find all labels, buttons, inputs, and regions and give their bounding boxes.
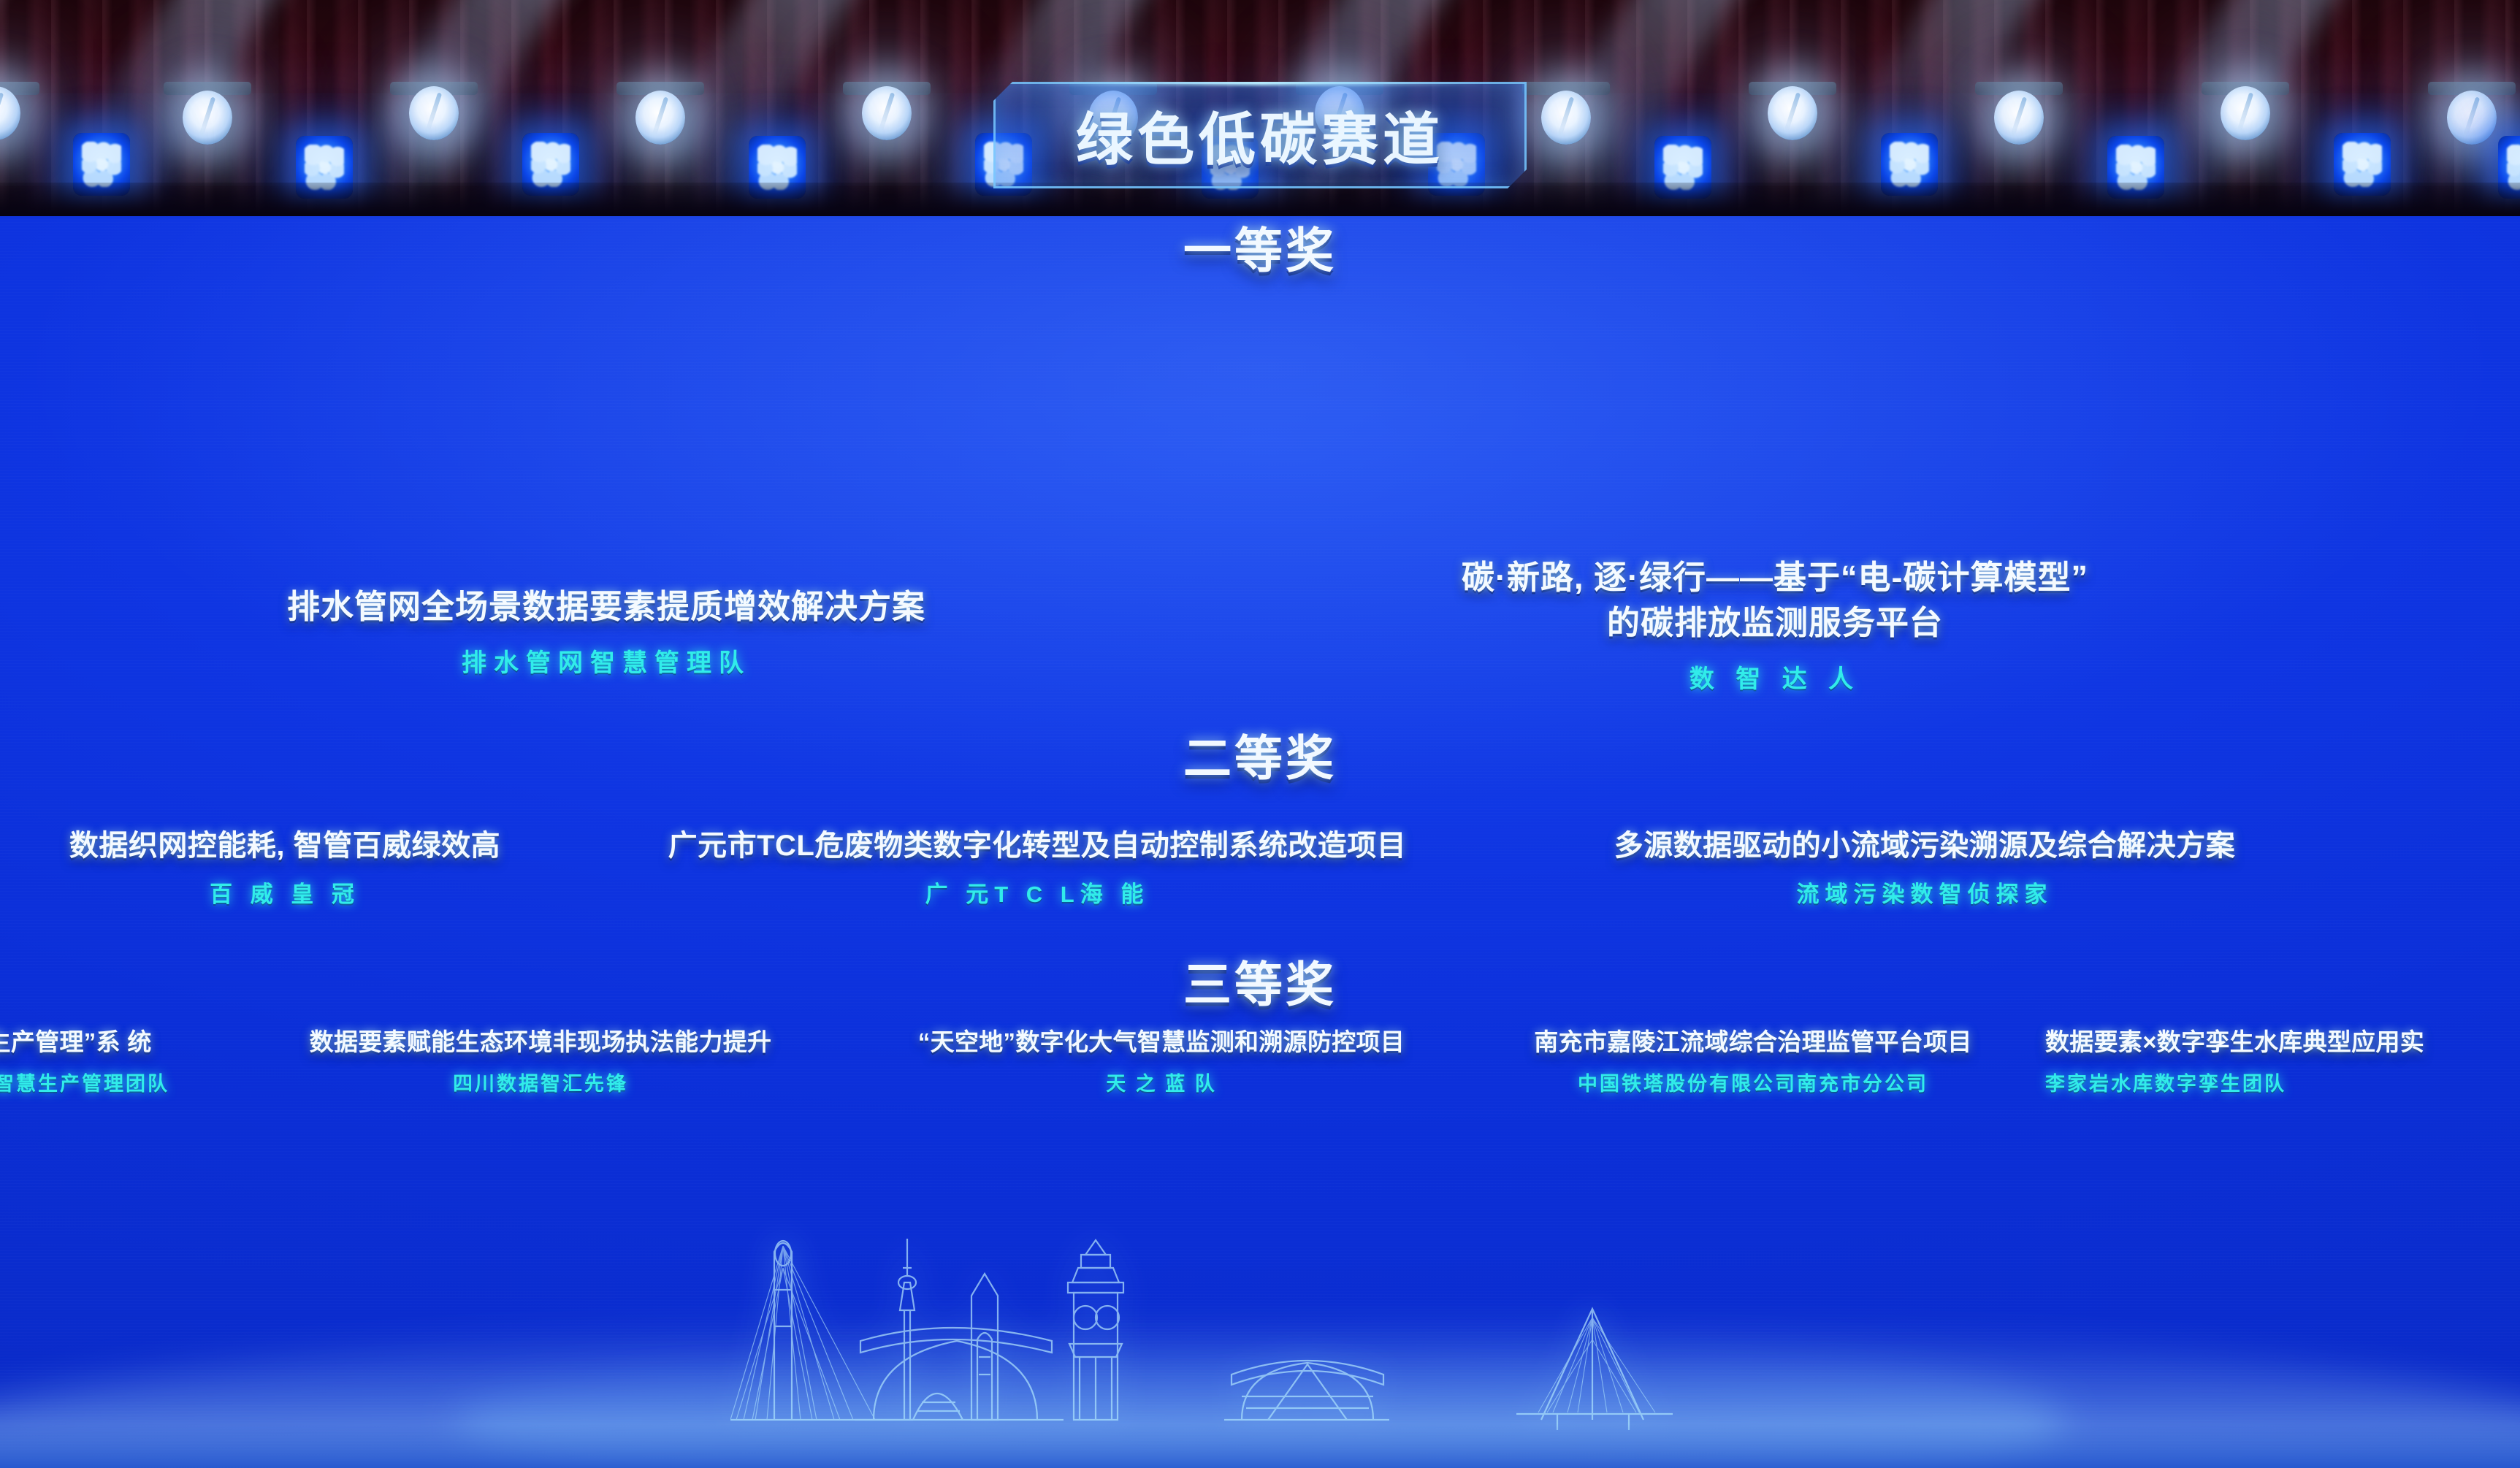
entry-team: 四川数据智汇先锋 [453,1068,628,1096]
award-entry-third-1: +生产管理”系 统 务智慧生产管理团队 [0,1022,235,1096]
entry-team: 百 威 皇 冠 [210,876,360,909]
entry-title: 多源数据驱动的小流域污染溯源及综合解决方案 [1614,822,2236,864]
award-entry-second-2: 广元市TCL危废物类数字化转型及自动控制系统改造项目 广 元T C L海 能 [643,822,1432,909]
entry-team: 数 智 达 人 [1689,659,1860,695]
entry-title: 广元市TCL危废物类数字化转型及自动控制系统改造项目 [668,822,1407,864]
entry-title: 排水管网全场景数据要素提质增效解决方案 [287,584,925,630]
entry-title-line: 数据要素赋能生态环境非现场执法能力提升 [310,1022,772,1058]
entry-title-line: 南充市嘉陵江流域综合治理监管平台项目 [1534,1022,1971,1058]
entry-title-line: 数据要素×数字孪生水库典型应用实 [2045,1022,2424,1058]
award-entry-third-5: 数据要素×数字孪生水库典型应用实 李家岩水库数字孪生团队 [2045,1022,2520,1096]
entry-title-line: “天空地”数字化大气智慧监测和溯源防控项目 [918,1022,1405,1058]
entry-title-line: 碳·新路, 逐·绿行——基于“电-碳计算模型” [1462,555,2088,600]
entry-title: 数据织网控能耗, 智管百威绿效高 [69,822,500,864]
entry-team: 天 之 蓝 队 [1106,1068,1217,1096]
entry-title-line: 多源数据驱动的小流域污染溯源及综合解决方案 [1614,822,2236,864]
award-entry-third-4: 南充市嘉陵江流域综合治理监管平台项目 中国铁塔股份有限公司南充市分公司 [1483,1022,2023,1096]
stage-scene: 绿色低碳赛道 一等奖 排水管网全场景数据要素提质增效解决方案 排水管网智慧管理队… [0,0,2520,1468]
entry-team: 流域污染数智侦探家 [1797,876,2053,909]
award-entry-second-3: 多源数据驱动的小流域污染溯源及综合解决方案 流域污染数智侦探家 [1559,822,2290,909]
entry-team: 李家岩水库数字孪生团队 [2045,1068,2286,1096]
award-entry-third-3: “天空地”数字化大气智慧监测和溯源防控项目 天 之 蓝 队 [847,1022,1475,1096]
entry-title: +生产管理”系 统 [0,1022,152,1058]
entry-title-line: 广元市TCL危废物类数字化转型及自动控制系统改造项目 [668,822,1407,864]
entry-team: 排水管网智慧管理队 [462,643,751,678]
entry-title-line: 排水管网全场景数据要素提质增效解决方案 [287,584,925,630]
entry-title-line: 数据织网控能耗, 智管百威绿效高 [69,822,500,864]
track-title-plaque: 绿色低碳赛道 [993,82,1527,188]
entry-title: 数据要素赋能生态环境非现场执法能力提升 [310,1022,772,1058]
entry-title-line: +生产管理”系 统 [0,1022,152,1058]
entry-title-line: 的碳排放监测服务平台 [1462,600,2088,646]
entry-title: 碳·新路, 逐·绿行——基于“电-碳计算模型” 的碳排放监测服务平台 [1462,555,2088,646]
entry-title: 南充市嘉陵江流域综合治理监管平台项目 [1534,1022,1971,1058]
award-entry-second-1: 数据织网控能耗, 智管百威绿效高 百 威 皇 冠 [44,822,526,909]
entry-team: 务智慧生产管理团队 [0,1068,169,1096]
prize-heading-third: 三等奖 [1183,946,1337,1016]
track-title: 绿色低碳赛道 [1076,94,1444,176]
award-entry-third-2: 数据要素赋能生态环境非现场执法能力提升 四川数据智汇先锋 [248,1022,833,1096]
award-entry-first-2: 碳·新路, 逐·绿行——基于“电-碳计算模型” 的碳排放监测服务平台 数 智 达… [1344,555,2206,695]
award-entry-first-1: 排水管网全场景数据要素提质增效解决方案 排水管网智慧管理队 [241,584,971,678]
entry-title: “天空地”数字化大气智慧监测和溯源防控项目 [918,1022,1405,1058]
entry-team: 广 元T C L海 能 [925,876,1150,909]
prize-heading-first: 一等奖 [1183,212,1337,282]
award-content: 绿色低碳赛道 一等奖 排水管网全场景数据要素提质增效解决方案 排水管网智慧管理队… [0,0,2520,1468]
prize-heading-second: 二等奖 [1183,719,1337,790]
entry-team: 中国铁塔股份有限公司南充市分公司 [1578,1068,1928,1096]
entry-title: 数据要素×数字孪生水库典型应用实 [2045,1022,2424,1058]
